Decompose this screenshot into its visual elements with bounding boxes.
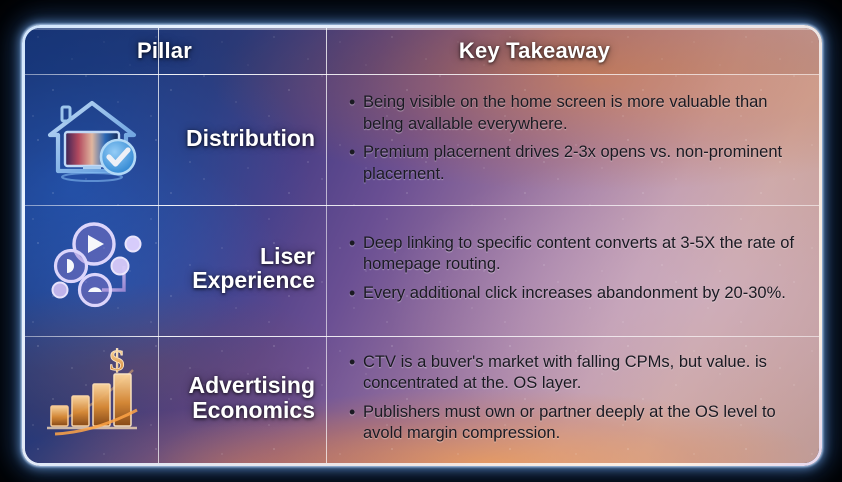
bullet-list-advertising-economics: CTV is a buver's market with falling CPM…: [348, 352, 803, 445]
pillar-cell-user-experience: Liser Experience: [158, 204, 326, 334]
bullet-item: Every additional click increases abandon…: [348, 283, 803, 304]
pillar-cell-distribution: Distribution: [158, 74, 326, 204]
pillar-label-advertising-economics: Advertising Economics: [188, 373, 315, 423]
table-frame: Pillar Key Takeaway: [22, 25, 822, 466]
bullet-list-distribution: Being visible on the home screen is more…: [348, 92, 803, 185]
bullet-item: Deep linking to specific content convert…: [348, 233, 803, 276]
header-cell-takeaway: Key Takeaway: [326, 28, 819, 74]
play-node-flow-icon: [38, 216, 146, 320]
icon-cell-distribution: [25, 74, 158, 204]
pillar-cell-advertising-economics: Advertising Economics: [158, 333, 326, 463]
header-label-pillar: Pillar: [137, 38, 192, 64]
table-container: Pillar Key Takeaway: [25, 28, 819, 463]
icon-cell-user-experience: [25, 204, 158, 334]
bullet-item: Publishers must own or partner deeply at…: [348, 402, 803, 445]
bullet-item: Premium placernent drives 2-3x opens vs.…: [348, 142, 803, 185]
bullet-item: CTV is a buver's market with falling CPM…: [348, 352, 803, 395]
bar-chart-dollar-icon: $: [37, 346, 147, 450]
screenshot-canvas: Pillar Key Takeaway: [0, 0, 842, 482]
pillar-label-user-experience: Liser Experience: [192, 244, 315, 294]
takeaway-cell-advertising-economics: CTV is a buver's market with falling CPM…: [326, 333, 819, 463]
icon-cell-advertising-economics: $: [25, 333, 158, 463]
takeaway-cell-user-experience: Deep linking to specific content convert…: [326, 204, 819, 334]
bullet-list-user-experience: Deep linking to specific content convert…: [348, 233, 803, 304]
bullet-item: Being visible on the home screen is more…: [348, 92, 803, 135]
header-label-takeaway: Key Takeaway: [459, 38, 610, 64]
takeaway-cell-distribution: Being visible on the home screen is more…: [326, 74, 819, 204]
pillar-label-distribution: Distribution: [186, 126, 315, 151]
house-tv-verified-icon: [38, 85, 146, 193]
header-cell-pillar: Pillar: [25, 28, 326, 74]
svg-text:$: $: [109, 346, 124, 377]
table-grid: Pillar Key Takeaway: [25, 28, 819, 463]
